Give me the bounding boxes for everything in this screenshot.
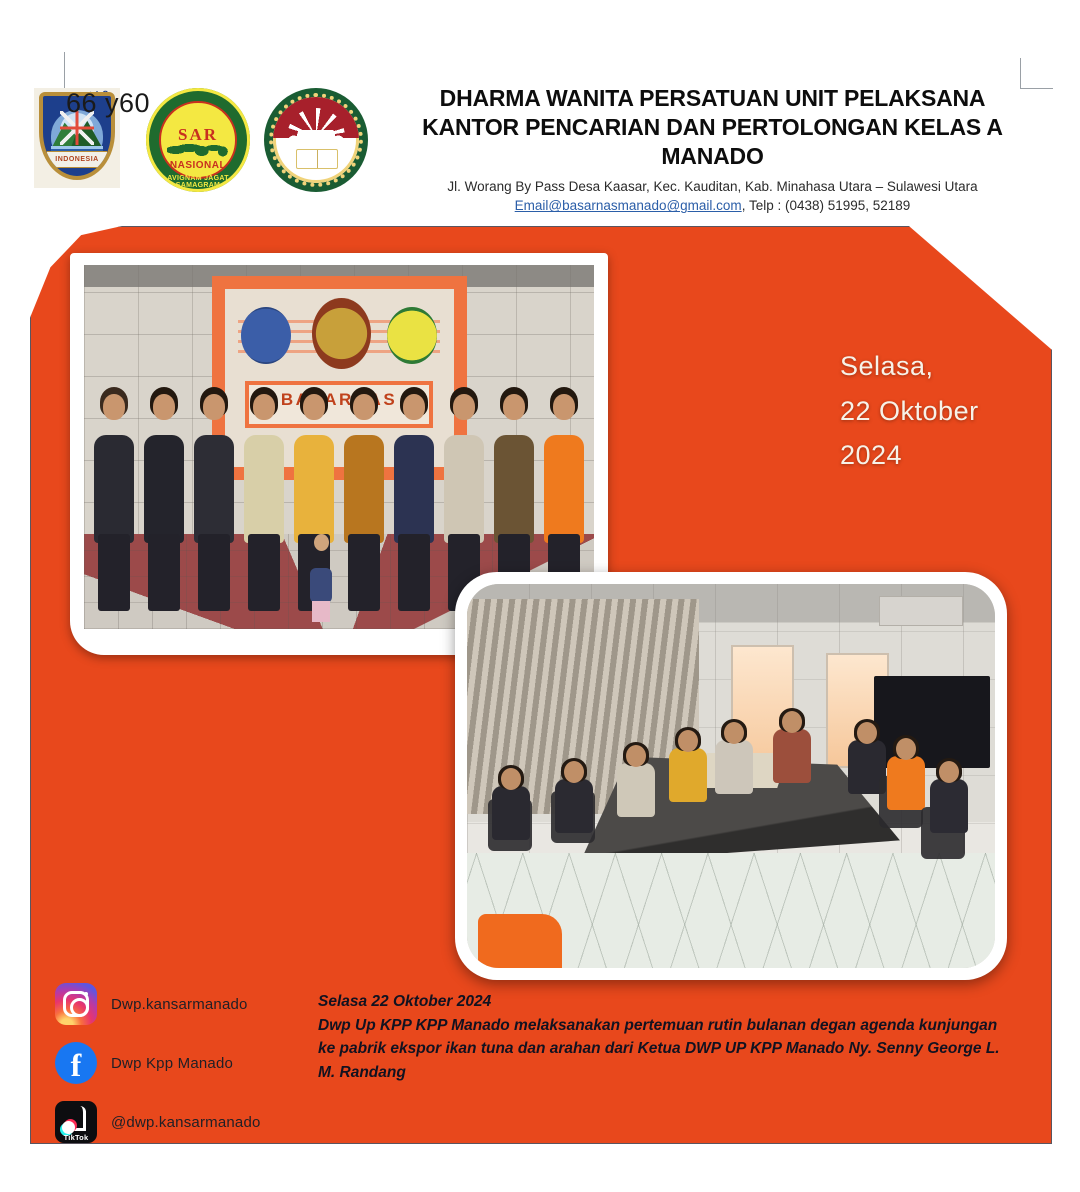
social-row-tiktok[interactable]: TikTok @dwp.kansarmanado: [55, 1098, 261, 1146]
meeting-photo-card: [455, 572, 1007, 980]
seated-person: [551, 761, 597, 835]
facebook-handle: Dwp Kpp Manado: [111, 1055, 233, 1072]
caption-block: Selasa 22 Oktober 2024 Dwp Up KPP KPP Ma…: [318, 990, 1018, 1084]
facebook-icon[interactable]: f: [55, 1042, 97, 1084]
crop-tick-mark: [64, 52, 65, 90]
child-figure: [308, 534, 334, 621]
seated-person: [615, 745, 657, 813]
header-title-block: DHARMA WANITA PERSATUAN UNIT PELAKSANA K…: [400, 84, 1025, 216]
email-link[interactable]: Email@basarnasmanado@gmail.com: [515, 198, 742, 213]
meeting-photo-image: [467, 584, 995, 968]
date-block: Selasa, 22 Oktober 2024: [840, 344, 1030, 478]
backdrop-emblem-sar: [387, 307, 437, 364]
seated-person: [773, 711, 811, 771]
date-line-2: 22 Oktober: [840, 389, 1030, 434]
backdrop-emblem-center: [312, 298, 372, 369]
tiktok-wordmark: TikTok: [55, 1133, 97, 1142]
title-line-1: DHARMA WANITA PERSATUAN UNIT PELAKSANA: [400, 84, 1025, 113]
title-line-2: KANTOR PENCARIAN DAN PERTOLONGAN KELAS A: [400, 113, 1025, 142]
crop-overlay-text: 66 y60: [66, 88, 150, 119]
shield-ribbon-label: INDONESIA: [47, 152, 107, 167]
seated-person: [926, 761, 972, 835]
sar-nasional-icon: ★ ★ ★ SAR NASIONAL AVIGNAM JAGAT SAMAGRA…: [146, 88, 250, 192]
social-row-facebook[interactable]: f Dwp Kpp Manado: [55, 1039, 261, 1087]
indonesia-map-shape: [167, 139, 229, 159]
sar-sub-label: NASIONAL: [161, 160, 235, 171]
tiktok-icon[interactable]: TikTok: [55, 1101, 97, 1143]
tiktok-handle: @dwp.kansarmanado: [111, 1114, 261, 1131]
sar-ring-label: AVIGNAM JAGAT SAMAGRAM: [146, 175, 250, 189]
air-conditioner-shape: [879, 596, 963, 627]
backdrop-emblem-basarnas: [241, 307, 291, 364]
instagram-handle: Dwp.kansarmanado: [111, 996, 248, 1013]
phone-text: , Telp : (0438) 51995, 52189: [742, 198, 911, 213]
social-row-instagram[interactable]: Dwp.kansarmanado: [55, 980, 261, 1028]
caption-body: Dwp Up KPP KPP Manado melaksanakan perte…: [318, 1014, 1018, 1085]
seated-person: [884, 738, 928, 808]
instagram-icon[interactable]: [55, 983, 97, 1025]
header-contact: Email@basarnasmanado@gmail.com, Telp : (…: [400, 196, 1025, 216]
seated-person: [668, 730, 708, 794]
header: BASARNAS INDONESIA ★ ★ ★ SAR NASIONAL: [0, 0, 1080, 222]
caption-date: Selasa 22 Oktober 2024: [318, 990, 1018, 1014]
title-line-3: MANADO: [400, 142, 1025, 171]
social-links: Dwp.kansarmanado f Dwp Kpp Manado TikTok…: [55, 980, 261, 1157]
header-address: Jl. Worang By Pass Desa Kaasar, Kec. Kau…: [400, 177, 1025, 197]
sar-stars: ★ ★ ★: [161, 107, 235, 118]
seated-person: [488, 768, 534, 842]
date-line-1: Selasa,: [840, 344, 1030, 389]
dharma-wanita-icon: [264, 88, 368, 192]
date-line-3: 2024: [840, 433, 1030, 478]
seated-person: [715, 722, 753, 782]
seated-person: [847, 722, 887, 784]
